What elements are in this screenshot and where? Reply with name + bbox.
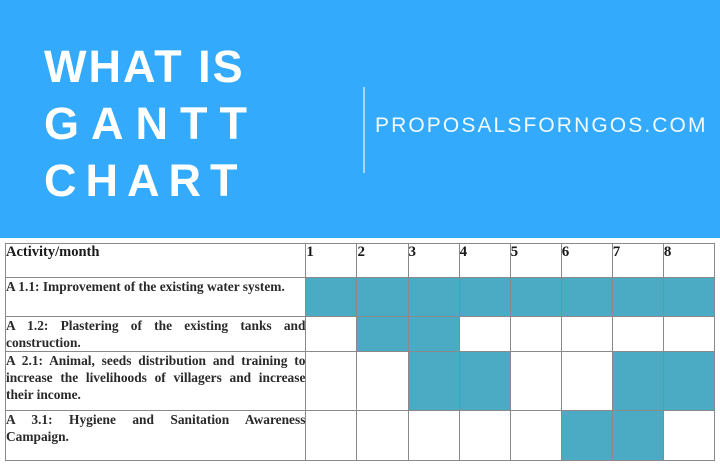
gantt-cell-r2-m2 [357,317,408,352]
gantt-cell-r4-m8 [663,411,714,461]
gantt-table-wrapper: Activity/month 1 2 3 4 5 6 7 8 A 1.1: Im… [5,243,715,468]
column-header-month-7: 7 [612,244,663,278]
gantt-cell-r3-m4 [459,352,510,411]
gantt-cell-r1-m8 [663,278,714,317]
gantt-cell-r2-m3 [408,317,459,352]
gantt-cell-r3-m2 [357,352,408,411]
column-header-month-2: 2 [357,244,408,278]
table-row: A 3.1: Hygiene and Sanitation Awareness … [6,411,715,461]
gantt-cell-r2-m1 [306,317,357,352]
activity-label: A 1.1: Improvement of the existing water… [6,278,306,317]
gantt-cell-r4-m5 [510,411,561,461]
gantt-cell-r3-m5 [510,352,561,411]
column-header-month-6: 6 [561,244,612,278]
gantt-cell-r3-m3 [408,352,459,411]
table-row: A 1.2: Plastering of the existing tanks … [6,317,715,352]
page-title: WHAT IS GANTT CHART [44,38,344,209]
activity-label: A 2.1: Animal, seeds distribution and tr… [6,352,306,411]
gantt-cell-r1-m6 [561,278,612,317]
gantt-cell-r3-m7 [612,352,663,411]
gantt-cell-r1-m5 [510,278,561,317]
gantt-cell-r4-m7 [612,411,663,461]
column-header-month-3: 3 [408,244,459,278]
gantt-chart-infographic: WHAT IS GANTT CHART PROPOSALSFORNGOS.COM… [0,0,720,468]
gantt-cell-r2-m7 [612,317,663,352]
website-url: PROPOSALSFORNGOS.COM [375,113,708,139]
table-row: A 2.1: Animal, seeds distribution and tr… [6,352,715,411]
title-line-1: WHAT IS [44,38,344,95]
table-row: A 1.1: Improvement of the existing water… [6,278,715,317]
gantt-cell-r1-m7 [612,278,663,317]
gantt-cell-r1-m2 [357,278,408,317]
gantt-cell-r1-m1 [306,278,357,317]
column-header-activity: Activity/month [6,244,306,278]
table-body: A 1.1: Improvement of the existing water… [6,278,715,461]
gantt-cell-r4-m4 [459,411,510,461]
gantt-cell-r3-m1 [306,352,357,411]
column-header-month-4: 4 [459,244,510,278]
title-line-3: CHART [44,152,344,209]
gantt-cell-r1-m3 [408,278,459,317]
header-banner: WHAT IS GANTT CHART PROPOSALSFORNGOS.COM [0,0,720,238]
activity-label: A 3.1: Hygiene and Sanitation Awareness … [6,411,306,461]
gantt-cell-r4-m6 [561,411,612,461]
gantt-cell-r2-m4 [459,317,510,352]
column-header-month-5: 5 [510,244,561,278]
column-header-month-1: 1 [306,244,357,278]
gantt-cell-r2-m8 [663,317,714,352]
gantt-cell-r3-m6 [561,352,612,411]
column-header-month-8: 8 [663,244,714,278]
gantt-cell-r4-m3 [408,411,459,461]
gantt-cell-r4-m1 [306,411,357,461]
gantt-cell-r2-m6 [561,317,612,352]
title-line-2: GANTT [44,95,344,152]
vertical-divider [363,87,365,173]
table-header-row: Activity/month 1 2 3 4 5 6 7 8 [6,244,715,278]
gantt-cell-r3-m8 [663,352,714,411]
gantt-table: Activity/month 1 2 3 4 5 6 7 8 A 1.1: Im… [5,243,715,461]
gantt-cell-r2-m5 [510,317,561,352]
gantt-cell-r4-m2 [357,411,408,461]
activity-label: A 1.2: Plastering of the existing tanks … [6,317,306,352]
gantt-cell-r1-m4 [459,278,510,317]
